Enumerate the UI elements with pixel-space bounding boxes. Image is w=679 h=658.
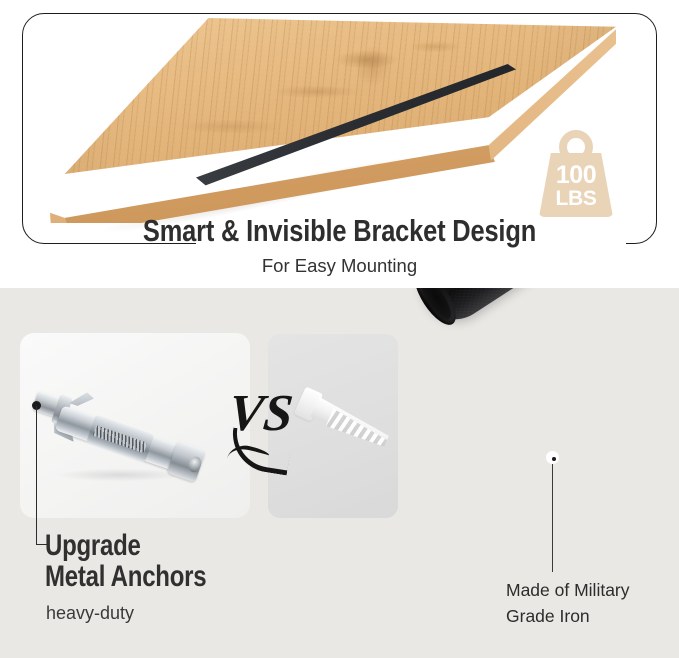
bracket-slot: [206, 156, 223, 165]
military-grade-iron-label: Made of Military Grade Iron: [506, 578, 630, 630]
metal-anchor-callout-line: [36, 406, 37, 545]
top-section: 100 LBS Smart & Invisible Bracket Design…: [0, 0, 679, 288]
page-title: Smart & Invisible Bracket Design: [61, 215, 618, 246]
military-grade-iron-line2: Grade Iron: [506, 604, 630, 630]
infographic-root: 100 LBS Smart & Invisible Bracket Design…: [0, 0, 679, 658]
pipe-callout-ring-icon: [546, 451, 559, 464]
upgrade-anchors-subtitle: heavy-duty: [46, 604, 134, 622]
anchor-wing-upper: [69, 388, 95, 410]
plastic-anchor-ribs: [326, 408, 391, 451]
upgrade-anchors-title-line1: Upgrade: [45, 529, 141, 562]
upgrade-anchors-title-line2: Metal Anchors: [45, 562, 206, 593]
pipe-callout-line: [552, 464, 553, 572]
pipe-body: [407, 288, 679, 332]
upgrade-anchors-title: Upgrade Metal Anchors: [45, 531, 206, 592]
military-grade-iron-line1: Made of Military: [506, 578, 630, 604]
weight-badge-value: 100: [530, 163, 622, 188]
weight-capacity-badge: 100 LBS: [530, 127, 622, 222]
weight-badge-unit: LBS: [530, 188, 622, 209]
page-subtitle: For Easy Mounting: [0, 257, 679, 276]
